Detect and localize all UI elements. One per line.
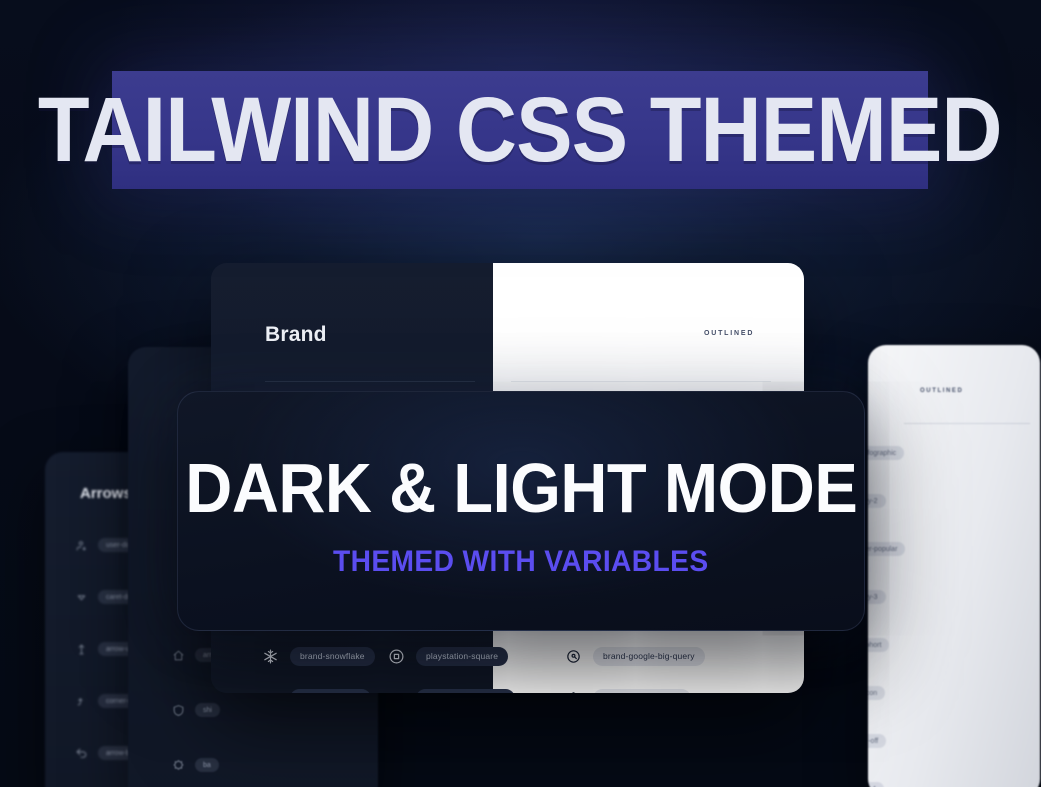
icon-name-chip: brand-deliveroo — [290, 689, 371, 694]
caret-down-icon — [75, 591, 88, 604]
icon-name-chip: rity-2 — [868, 494, 886, 508]
corner-right-up-icon — [75, 695, 88, 708]
brand-card-title: Brand — [265, 323, 327, 347]
brand-snowflake-icon — [262, 648, 279, 665]
brand-codesandbox-icon — [565, 690, 582, 694]
icon-name-chip: pe-4 — [868, 782, 884, 787]
hero-subtitle: THEMED WITH VARIABLES — [333, 547, 709, 577]
panel-divider — [904, 423, 1030, 424]
badge-icon — [172, 759, 185, 772]
icon-name-chip: cohort — [868, 638, 889, 652]
icon-grid-item[interactable]: brand-deliveroo — [211, 677, 388, 693]
headline-banner-text: TAILWIND CSS THEMED — [38, 88, 1002, 173]
icon-name-chip: ba — [195, 758, 219, 772]
brand-deliveroo-icon — [262, 690, 279, 694]
icon-name-chip: ker-popular — [868, 542, 905, 556]
hero-card: DARK & LIGHT MODE THEMED WITH VARIABLES — [177, 391, 865, 631]
brand-card-outlined-label: OUTLINED — [704, 330, 754, 337]
list-item[interactable]: ba — [172, 752, 378, 778]
icon-grid-item[interactable]: playstation-square — [388, 635, 565, 677]
icon-grid-item[interactable]: brand-snowflake — [211, 635, 388, 677]
brand-card-light-rule — [511, 381, 771, 382]
list-item[interactable]: cohort — [868, 632, 1040, 658]
headline-banner: TAILWIND CSS THEMED — [112, 71, 928, 189]
arrow-back-up-icon — [75, 747, 88, 760]
brand-google-big-query-icon — [565, 648, 582, 665]
icon-grid-item[interactable]: brand-google-big-query — [565, 635, 742, 677]
poster-canvas: Arrows user-downcaret-downarrow-up-circl… — [0, 0, 1041, 787]
hero-title: DARK & LIGHT MODE — [185, 453, 857, 523]
list-item[interactable]: shi — [172, 697, 378, 723]
brand-card-dark-rule — [265, 381, 475, 382]
list-item[interactable]: infographic — [868, 440, 1040, 466]
list-item[interactable]: ker-popular — [868, 536, 1040, 562]
list-item[interactable]: rity-3 — [868, 584, 1040, 610]
list-item[interactable]: pe-4 — [868, 776, 1040, 787]
icon-grid-row: brand-snowflakeplaystation-squarebrand-g… — [211, 635, 804, 677]
icon-name-chip: infographic — [868, 446, 904, 460]
outlined-light-panel: OUTLINED infographicrity-2ker-popularrit… — [868, 345, 1040, 787]
icon-name-chip: brand-stackoverflow — [416, 689, 515, 694]
list-item[interactable]: rity-2 — [868, 488, 1040, 514]
user-down-icon — [75, 539, 88, 552]
icon-name-chip: brand-google-big-query — [593, 647, 705, 666]
icon-name-chip: shi — [195, 703, 220, 717]
list-item[interactable]: -icon — [868, 680, 1040, 706]
playstation-square-icon — [388, 648, 405, 665]
icon-grid-item[interactable]: brand-stackoverflow — [388, 677, 565, 693]
icon-grid-item[interactable]: brand-codesandbox — [565, 677, 742, 693]
icon-name-chip: rity-3 — [868, 590, 886, 604]
arrow-home-icon — [172, 649, 185, 662]
brand-stackoverflow-icon — [388, 690, 405, 694]
outlined-light-panel-list: infographicrity-2ker-popularrity-3cohort… — [868, 440, 1040, 787]
icon-name-chip: -icon — [868, 686, 885, 700]
icon-name-chip: playstation-square — [416, 647, 508, 666]
arrow-up-circle-icon — [75, 643, 88, 656]
list-item[interactable]: er-off — [868, 728, 1040, 754]
outlined-light-panel-title: OUTLINED — [920, 388, 963, 394]
icon-name-chip: brand-codesandbox — [593, 689, 691, 694]
icon-name-chip: er-off — [868, 734, 886, 748]
icon-grid-row: brand-deliveroobrand-stackoverflowbrand-… — [211, 677, 804, 693]
arrows-panel-title: Arrows — [80, 485, 132, 502]
shield-icon — [172, 704, 185, 717]
icon-name-chip: brand-snowflake — [290, 647, 375, 666]
